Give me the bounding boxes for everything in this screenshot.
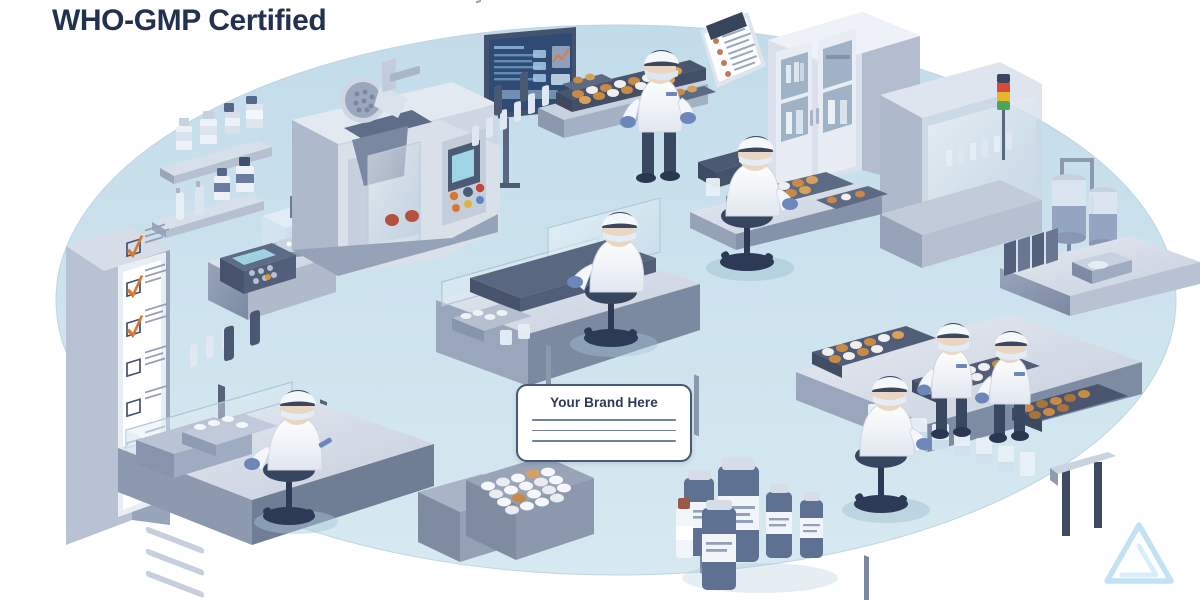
triangle-logo-icon: [1102, 520, 1176, 586]
page-title: WHO-GMP Certified: [52, 4, 326, 38]
facility-illustration: WHO-GMP Certified Your Brand Here: [0, 0, 1200, 600]
bottle-small-b: [800, 492, 823, 558]
brand-card-line-3: [532, 440, 676, 442]
product-crates: [418, 456, 594, 600]
brand-card-line-1: [532, 419, 676, 421]
foreground-layer: [0, 0, 1200, 600]
brand-card-title: Your Brand Here: [518, 395, 690, 410]
bottle-small-a: [766, 484, 792, 558]
bottle-front: [702, 500, 736, 590]
foreground-bottles: [676, 458, 838, 593]
brand-card-line-2: [532, 430, 676, 432]
brand-placeholder-card[interactable]: Your Brand Here: [516, 384, 692, 462]
